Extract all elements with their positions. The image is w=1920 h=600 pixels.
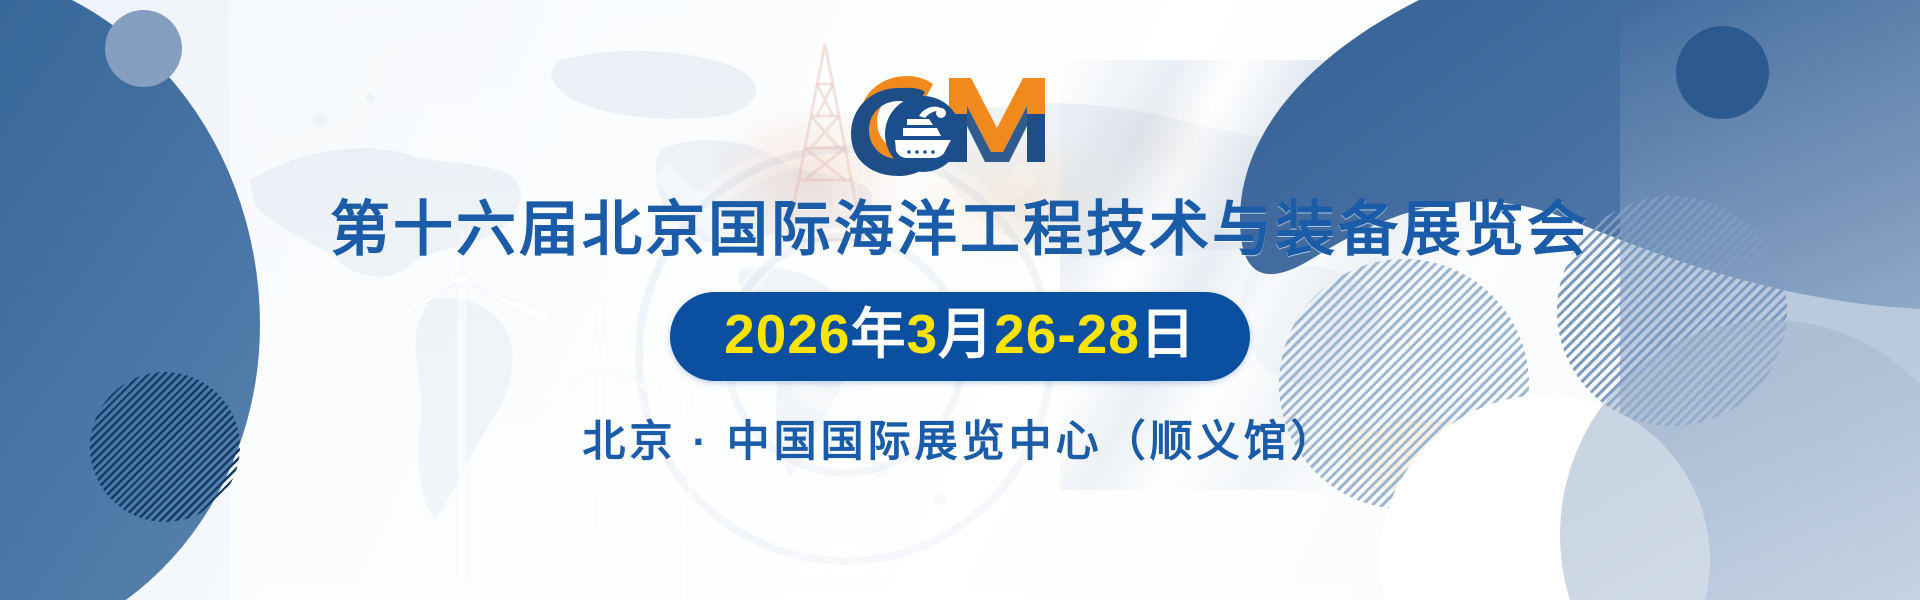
- venue-text: 北京 · 中国国际展览中心（顺义馆）: [582, 407, 1337, 469]
- date-month-unit: 月: [938, 302, 994, 367]
- date-badge: 2026 年 3 月 26-28 日: [670, 292, 1250, 381]
- event-banner: 第十六届北京国际海洋工程技术与装备展览会 2026 年 3 月 26-28 日 …: [0, 0, 1920, 600]
- date-year: 2026: [724, 302, 850, 367]
- date-month: 3: [907, 302, 939, 367]
- cm-logo: [845, 72, 1075, 176]
- date-year-unit: 年: [851, 302, 907, 367]
- banner-content: 第十六届北京国际海洋工程技术与装备展览会 2026 年 3 月 26-28 日 …: [0, 0, 1920, 600]
- date-days: 26-28: [994, 302, 1140, 367]
- date-day-unit: 日: [1140, 302, 1196, 367]
- page-title: 第十六届北京国际海洋工程技术与装备展览会: [330, 200, 1590, 260]
